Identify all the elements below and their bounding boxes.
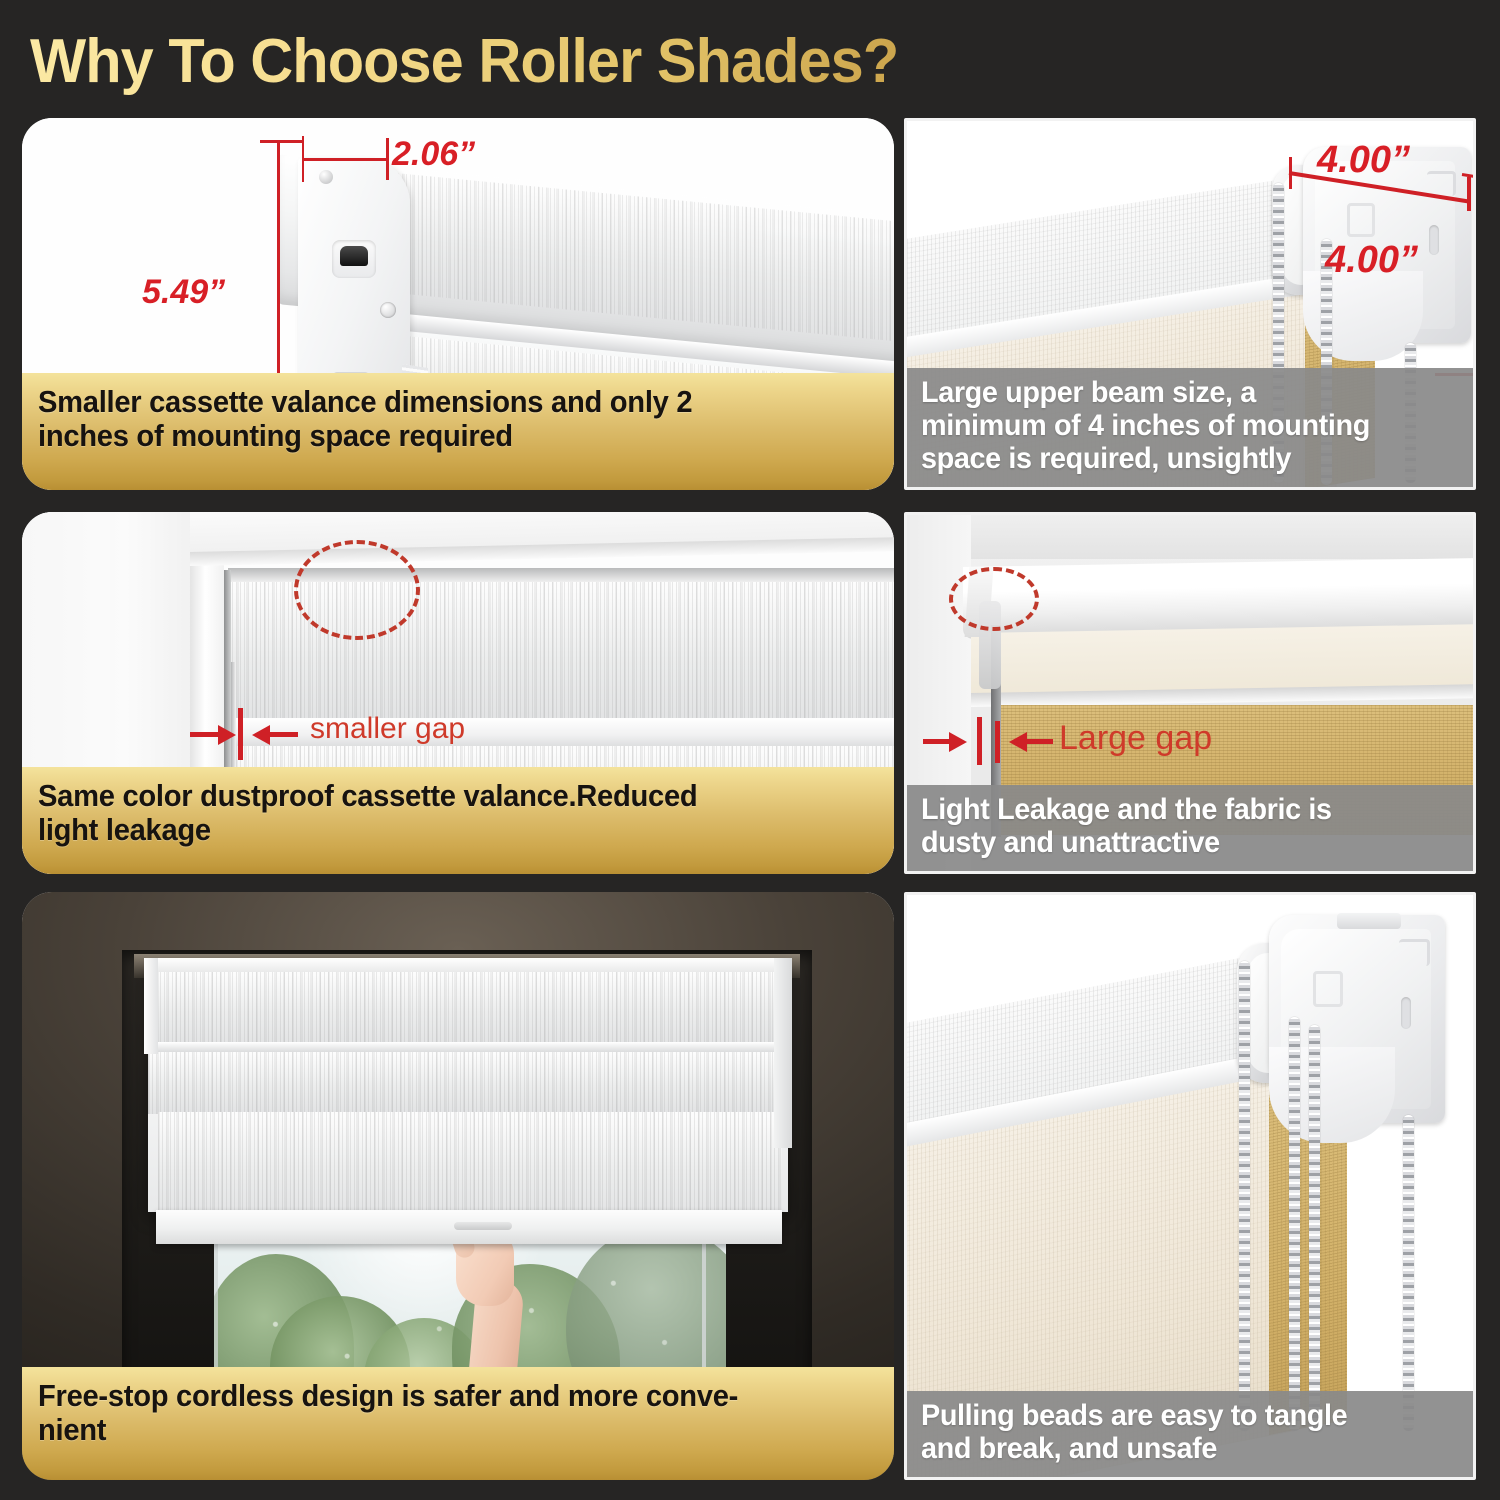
caption-bar: Light Leakage and the fabric is dusty an…: [907, 785, 1473, 871]
gap-marker-2: [995, 721, 1000, 763]
caption-bar: Pulling beads are easy to tangle and bre…: [907, 1391, 1473, 1477]
caption-line-1: Free-stop cordless design is safer and m…: [38, 1379, 828, 1414]
bead-chain: [1309, 1025, 1320, 1431]
caption-bar: Large upper beam size, a minimum of 4 in…: [907, 368, 1473, 487]
bead-chain: [1239, 961, 1250, 1431]
gap-arrow-left-head: [949, 732, 967, 752]
dim-tick-right: [386, 138, 389, 180]
gap-label: Large gap: [1059, 719, 1212, 758]
dimension-height-label: 5.49”: [142, 273, 225, 312]
caption-line-1: Smaller cassette valance dimensions and …: [38, 385, 828, 420]
bead-chain: [1289, 1017, 1300, 1431]
panel-large-upper-beam: 4.00” 4.00” Large upper beam size, a min…: [904, 118, 1476, 490]
gap-marker: [238, 708, 243, 760]
highlight-circle: [294, 540, 420, 640]
caption-line-1: Light Leakage and the fabric is: [921, 793, 1437, 826]
panel-smaller-gap: smaller gap Same color dustproof cassett…: [22, 512, 894, 874]
gap-marker: [977, 717, 982, 765]
caption-line-2: minimum of 4 inches of mounting: [921, 409, 1437, 442]
caption-bar: Same color dustproof cassette valance.Re…: [22, 767, 894, 874]
dimension-width-label: 2.06”: [392, 135, 475, 174]
dimension-height-label: 4.00”: [1325, 239, 1418, 282]
caption-line-2: nient: [38, 1413, 828, 1448]
bead-chain: [1403, 1115, 1414, 1431]
gap-arrow-left-head: [218, 725, 236, 745]
caption-line-2: light leakage: [38, 813, 828, 848]
caption-line-1: Pulling beads are easy to tangle: [921, 1399, 1437, 1432]
panel-smaller-cassette: 2.06” 5.49” Smaller cassette valance dim…: [22, 118, 894, 490]
highlight-circle: [949, 567, 1039, 631]
dim-line-width: [302, 158, 388, 161]
caption-line-2: and break, and unsafe: [921, 1432, 1437, 1465]
caption-line-2: dusty and unattractive: [921, 826, 1437, 859]
product-photo-bead-chains: [907, 895, 1473, 1477]
panel-large-gap: Large gap Light Leakage and the fabric i…: [904, 512, 1476, 874]
caption-line-1: Same color dustproof cassette valance.Re…: [38, 779, 828, 814]
gap-arrow-right: [268, 732, 298, 737]
dim-cap-top: [260, 140, 302, 143]
dimension-width-label: 4.00”: [1317, 139, 1410, 182]
page-title: Why To Choose Roller Shades?: [30, 22, 1086, 102]
dim-tick-right: [1467, 177, 1471, 211]
caption-bar: Smaller cassette valance dimensions and …: [22, 373, 894, 490]
caption-line-2: inches of mounting space required: [38, 419, 828, 454]
caption-line-3: space is required, unsightly: [921, 442, 1437, 475]
caption-bar: Free-stop cordless design is safer and m…: [22, 1367, 894, 1480]
panel-pulling-beads: Pulling beads are easy to tangle and bre…: [904, 892, 1476, 1480]
gap-label: smaller gap: [310, 712, 465, 746]
caption-line-1: Large upper beam size, a: [921, 376, 1437, 409]
panel-cordless-design: Free-stop cordless design is safer and m…: [22, 892, 894, 1480]
gap-arrow-right: [1025, 739, 1053, 744]
